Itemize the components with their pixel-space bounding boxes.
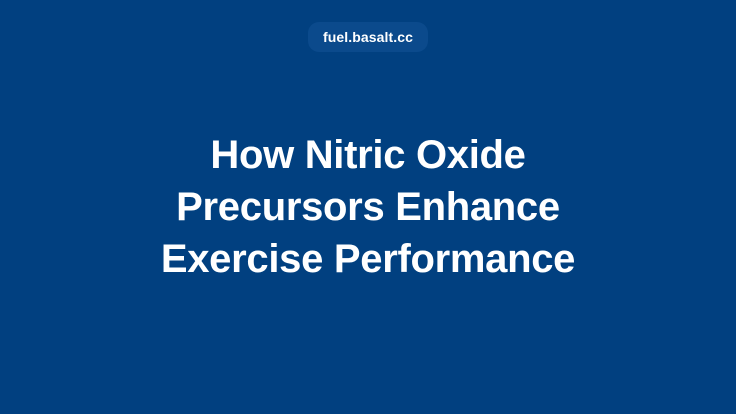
headline-container: How Nitric Oxide Precursors Enhance Exer… [0,0,736,414]
social-share-card: fuel.basalt.cc How Nitric Oxide Precurso… [0,0,736,414]
title-line-3: Exercise Performance [60,233,676,285]
page-title: How Nitric Oxide Precursors Enhance Exer… [60,129,676,285]
title-line-1: How Nitric Oxide [60,129,676,181]
title-line-2: Precursors Enhance [60,181,676,233]
